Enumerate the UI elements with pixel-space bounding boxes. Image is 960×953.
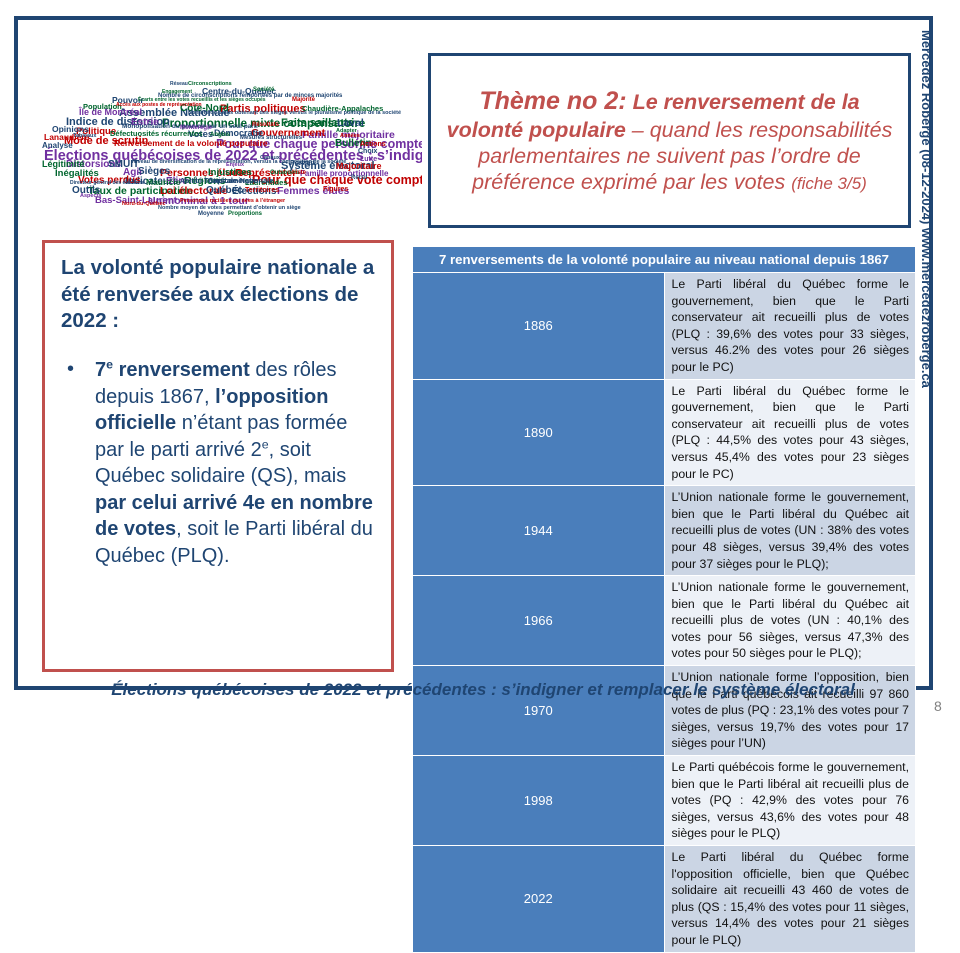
word-cloud-image: Élections québécoises de 2022 et précéde… (40, 46, 422, 236)
word-cloud-term: Actions (360, 141, 386, 148)
word-cloud-term: Légitimité (42, 160, 85, 169)
left-callout-bullet: •7e renversement des rôles depuis 1867, … (61, 357, 377, 570)
word-cloud-term: Montérégie (180, 125, 212, 131)
word-cloud-term: Nombre de partis obtenant des sièges ver… (188, 111, 401, 117)
theme-title-part2: volonté populaire (447, 118, 626, 142)
word-cloud-term: Aspects (80, 194, 101, 200)
reversals-table-wrapper: 7 renversements de la volonté populaire … (412, 246, 916, 953)
reversals-table-title: 7 renversements de la volonté populaire … (413, 247, 916, 273)
theme-title-lead: Thème no 2: (479, 87, 626, 115)
word-cloud-term: Mesures structurelles (240, 135, 302, 141)
word-cloud-term: Résultats (252, 122, 279, 128)
word-cloud-term: Analyse (42, 142, 73, 150)
table-row: 1944L’Union nationale forme le gouvernem… (413, 486, 916, 576)
word-cloud-term: Canaux (260, 156, 280, 162)
page-number: 8 (934, 698, 942, 714)
table-row: 1998Le Parti québécois forme le gouverne… (413, 756, 916, 846)
table-row: 1890Le Parti libéral du Québec forme le … (413, 379, 916, 486)
word-cloud-term: Engagement (162, 90, 192, 95)
word-cloud-term: Société (253, 87, 274, 93)
author-credit: Mercédez Roberge (08-12-2024) (919, 30, 934, 224)
table-cell-description: L’Union nationale forme le gouvernement,… (664, 576, 916, 666)
word-cloud-term: Personnes racisées ou nées à l’étranger (180, 199, 285, 205)
word-cloud-term: Accès aux postes de représentation (116, 103, 202, 108)
theme-title-box: Thème no 2: Le renversement de la volont… (428, 53, 911, 228)
table-cell-year: 1966 (413, 576, 665, 666)
word-cloud-term: Moyenne (198, 211, 224, 217)
reversals-table: 7 renversements de la volonté populaire … (412, 246, 916, 953)
table-cell-description: Le Parti libéral du Québec forme l'oppos… (664, 846, 916, 953)
word-cloud-term: Adapter (336, 129, 357, 135)
table-cell-year: 1998 (413, 756, 665, 846)
word-cloud-term: Nord-du-Québec (122, 202, 165, 208)
reversals-table-body: 1886Le Parti libéral du Québec forme le … (413, 273, 916, 953)
word-cloud-term: Recul (351, 175, 367, 181)
word-cloud-term: Circonscriptions (188, 82, 232, 88)
table-header-row: 7 renversements de la volonté populaire … (413, 247, 916, 273)
left-callout-box: La volonté populaire nationale a été ren… (42, 240, 394, 672)
theme-title-text: Thème no 2: Le renversement de la volont… (441, 86, 898, 194)
word-cloud-term: Figures (323, 186, 348, 193)
word-cloud-term: Majorité (292, 97, 315, 103)
word-cloud-term: Territoires (245, 187, 279, 194)
word-cloud-term: Années (340, 134, 360, 140)
bullet-text-segment: 7 (95, 359, 106, 381)
word-cloud-term: Tableaux (73, 134, 96, 140)
theme-title-fiche: (fiche 3/5) (791, 174, 867, 193)
bullet-text-segment: renversement (113, 359, 250, 381)
word-cloud-term: Capitale-Nationale (208, 177, 273, 185)
reversals-table-head: 7 renversements de la volonté populaire … (413, 247, 916, 273)
word-cloud-term: Famille proportionnelle (300, 170, 388, 178)
table-cell-description: Le Parti libéral du Québec forme le gouv… (664, 379, 916, 486)
table-cell-description: Le Parti québécois forme le gouvernement… (664, 756, 916, 846)
word-cloud-term: Lutte (360, 156, 377, 163)
slide-frame: Élections québécoises de 2022 et précéde… (14, 16, 933, 690)
bullet-text-segment: e (106, 357, 113, 371)
table-cell-year: 1890 (413, 379, 665, 486)
word-cloud-term: Laval (337, 118, 364, 129)
word-cloud-term: Angles (210, 132, 230, 138)
table-cell-year: 2022 (413, 846, 665, 953)
word-cloud-term: Inégalités (55, 169, 99, 179)
table-cell-description: L’Union nationale forme le gouvernement,… (664, 486, 916, 576)
word-cloud-term: Enjeux (226, 163, 244, 169)
table-cell-description: Le Parti libéral du Québec forme le gouv… (664, 273, 916, 380)
bullet-marker: • (67, 356, 74, 383)
table-row: 1886Le Parti libéral du Québec forme le … (413, 273, 916, 380)
word-cloud-term: Liste (292, 170, 306, 176)
left-callout-heading: La volonté populaire nationale a été ren… (61, 255, 377, 335)
word-cloud-term: Réseau (170, 82, 188, 87)
word-cloud-term: Directeur général des élections (70, 181, 144, 186)
table-cell-year: 1886 (413, 273, 665, 380)
website-credit: www.mercedezroberge.ca (919, 228, 934, 388)
word-cloud-term: Défectuosités récurrentes (110, 130, 203, 138)
word-cloud-term: Mauricie (146, 178, 181, 187)
slide-footer: Élections québécoises de 2022 et précéde… (58, 680, 908, 700)
slide-root: Élections québécoises de 2022 et précéde… (0, 0, 960, 720)
word-cloud-term: Choix (358, 148, 377, 155)
theme-title-part1: Le renversement de la (633, 90, 860, 114)
table-row: 2022Le Parti libéral du Québec forme l'o… (413, 846, 916, 953)
table-cell-year: 1944 (413, 486, 665, 576)
bullet-text-segment: e (262, 437, 269, 451)
left-callout-list: •7e renversement des rôles depuis 1867, … (61, 357, 377, 570)
word-cloud-term: Proportions (228, 211, 262, 217)
table-row: 1966L’Union nationale forme le gouvernem… (413, 576, 916, 666)
